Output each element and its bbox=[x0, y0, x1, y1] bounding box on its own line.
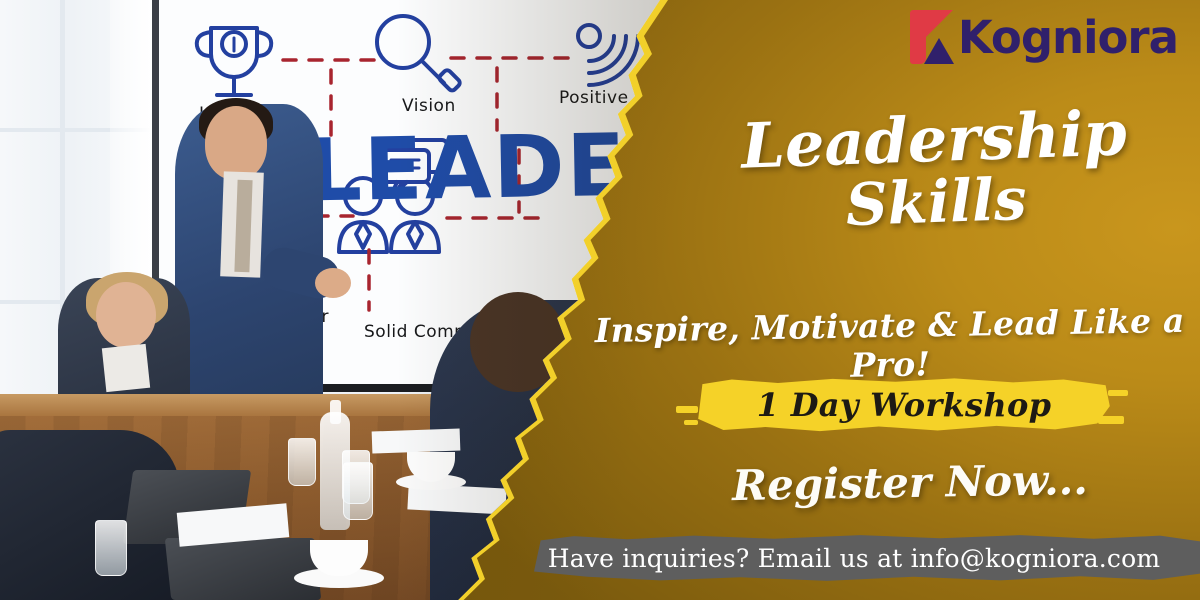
workshop-duration-badge: 1 Day Workshop bbox=[694, 376, 1114, 434]
event-promo-banner: Integrity Vision Positive Humor Solid Co… bbox=[0, 0, 1200, 600]
kogniora-k-mark-icon bbox=[910, 10, 956, 64]
register-cta[interactable]: Register Now... bbox=[700, 454, 1121, 510]
brand-logo[interactable]: Kogniora bbox=[910, 10, 1178, 64]
k-upper-triangle-shape bbox=[923, 10, 953, 40]
contact-text: Have inquiries? Email us at info@kognior… bbox=[534, 532, 1174, 584]
page-title: Leadership Skills bbox=[698, 100, 1172, 241]
badge-label: 1 Day Workshop bbox=[694, 376, 1114, 434]
k-lower-triangle-shape bbox=[924, 38, 954, 64]
brand-name: Kogniora bbox=[958, 15, 1178, 60]
